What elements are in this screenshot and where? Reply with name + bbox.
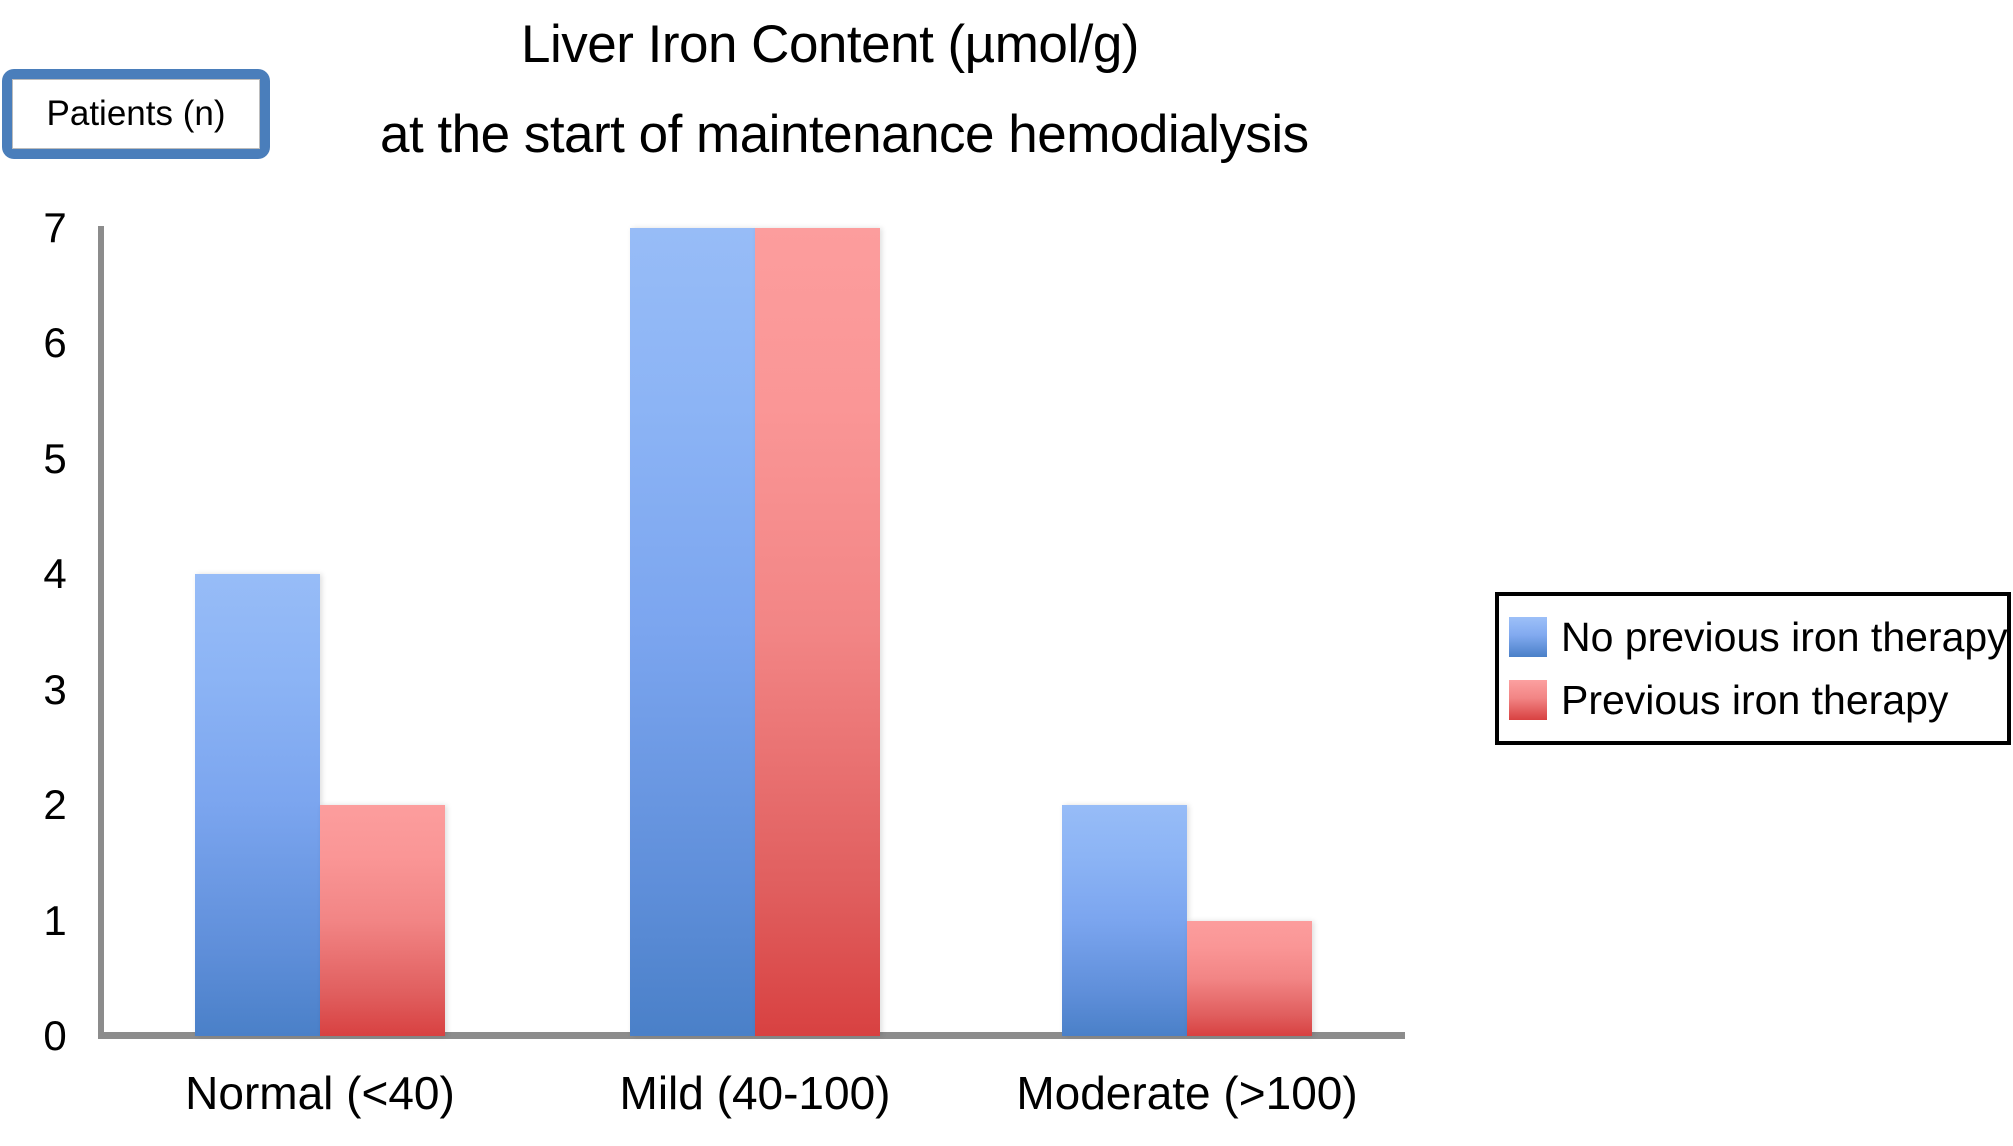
y-tick-label: 1 <box>20 900 90 942</box>
y-axis-callout-inner: Patients (n) <box>12 79 260 149</box>
x-category-label: Mild (40-100) <box>620 1058 891 1128</box>
y-axis-callout-box: Patients (n) <box>2 69 270 159</box>
bar-no-previous-iron-therapy <box>1062 805 1187 1036</box>
x-category-label: Normal (<40) <box>185 1058 455 1128</box>
legend-label: Previous iron therapy <box>1561 678 1948 722</box>
y-tick-label: 0 <box>20 1015 90 1057</box>
plot-area <box>98 228 1405 1036</box>
chart-canvas: Liver Iron Content (µmol/g) at the start… <box>0 0 2013 1146</box>
bar-previous-iron-therapy <box>320 805 445 1036</box>
legend-label: No previous iron therapy <box>1561 615 2008 659</box>
legend-swatch-icon <box>1509 617 1547 657</box>
chart-title-line-1: Liver Iron Content (µmol/g) <box>380 0 1280 90</box>
y-tick-label: 7 <box>20 207 90 249</box>
y-tick-label: 4 <box>20 553 90 595</box>
y-axis-tick-labels: 01234567 <box>0 228 90 1036</box>
x-axis-category-labels: Normal (<40)Mild (40-100)Moderate (>100) <box>98 1058 1405 1138</box>
chart-legend: No previous iron therapyPrevious iron th… <box>1495 592 2011 745</box>
chart-title-line-2: at the start of maintenance hemodialysis <box>380 90 1280 180</box>
x-category-label: Moderate (>100) <box>1016 1058 1357 1128</box>
legend-item: Previous iron therapy <box>1509 676 1999 724</box>
y-tick-label: 3 <box>20 669 90 711</box>
bar-no-previous-iron-therapy <box>630 228 755 1036</box>
y-tick-label: 6 <box>20 322 90 364</box>
bar-previous-iron-therapy <box>755 228 880 1036</box>
y-tick-label: 2 <box>20 784 90 826</box>
bar-no-previous-iron-therapy <box>195 574 320 1036</box>
chart-title: Liver Iron Content (µmol/g) at the start… <box>380 0 1280 180</box>
y-tick-label: 5 <box>20 438 90 480</box>
bar-previous-iron-therapy <box>1187 921 1312 1036</box>
y-axis-callout-label: Patients (n) <box>47 94 226 134</box>
legend-item: No previous iron therapy <box>1509 613 1999 661</box>
legend-swatch-icon <box>1509 680 1547 720</box>
